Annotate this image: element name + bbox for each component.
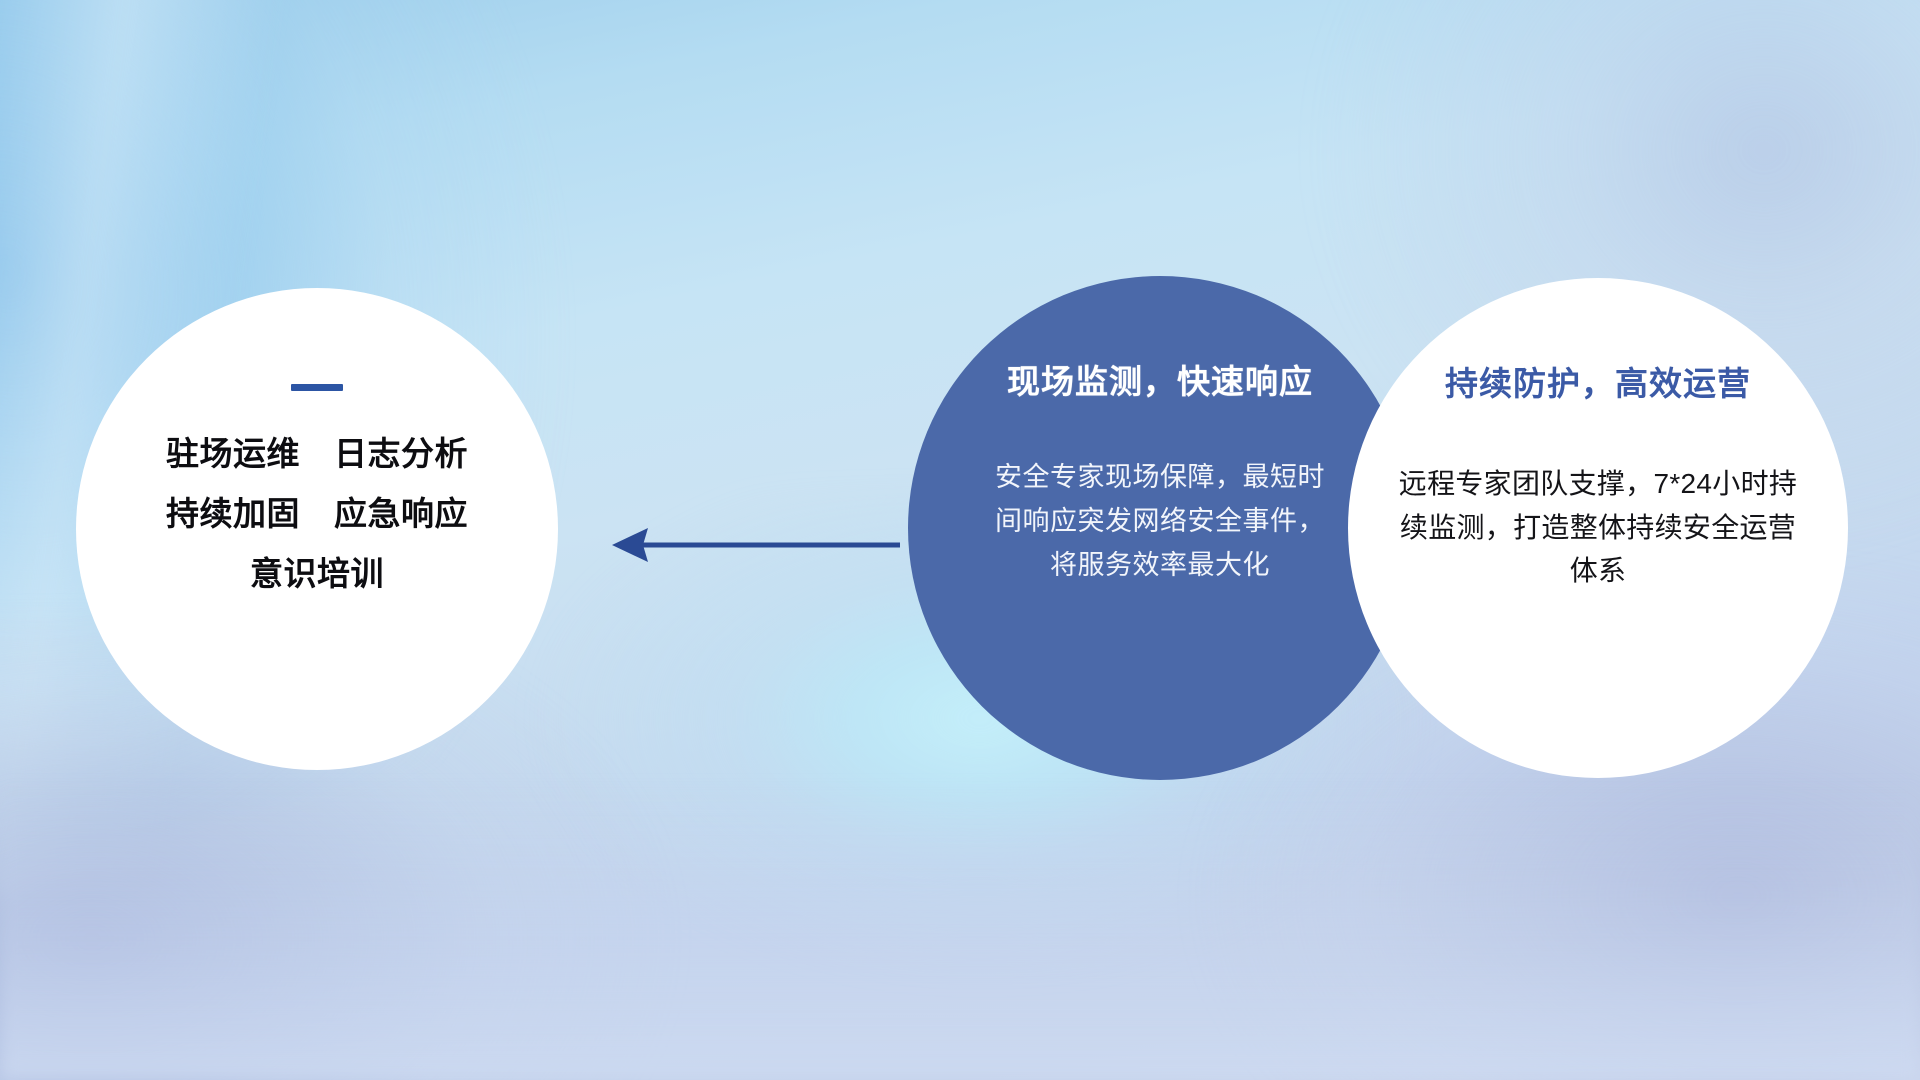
node-capabilities-content: 驻场运维 日志分析 持续加固 应急响应 意识培训 — [76, 288, 558, 770]
connector-arrow-left — [600, 515, 900, 575]
capability-item: 应急响应 — [334, 497, 468, 530]
horizontal-dash-icon — [291, 384, 343, 391]
capability-list: 驻场运维 日志分析 持续加固 应急响应 意识培训 — [166, 437, 468, 590]
node-body: 安全专家现场保障，最短时间响应突发网络安全事件，将服务效率最大化 — [990, 456, 1330, 587]
capability-item: 持续加固 — [166, 497, 300, 530]
capability-row: 持续加固 应急响应 — [166, 497, 468, 530]
arrow-left-icon — [600, 515, 900, 575]
capability-row: 驻场运维 日志分析 — [166, 437, 468, 470]
background-bottom-veil — [0, 780, 1920, 1080]
node-onsite-monitoring-text: 现场监测，快速响应 安全专家现场保障，最短时间响应突发网络安全事件，将服务效率最… — [908, 276, 1412, 780]
node-title: 持续防护，高效运营 — [1445, 366, 1751, 402]
capability-row: 意识培训 — [250, 557, 384, 590]
node-body: 远程专家团队支撑，7*24小时持续监测，打造整体持续安全运营体系 — [1388, 462, 1808, 592]
node-continuous-protection-text: 持续防护，高效运营 远程专家团队支撑，7*24小时持续监测，打造整体持续安全运营… — [1348, 278, 1848, 778]
capability-item: 意识培训 — [250, 557, 384, 590]
node-title: 现场监测，快速响应 — [1007, 364, 1313, 400]
capability-item: 日志分析 — [334, 437, 468, 470]
capability-item: 驻场运维 — [166, 437, 300, 470]
